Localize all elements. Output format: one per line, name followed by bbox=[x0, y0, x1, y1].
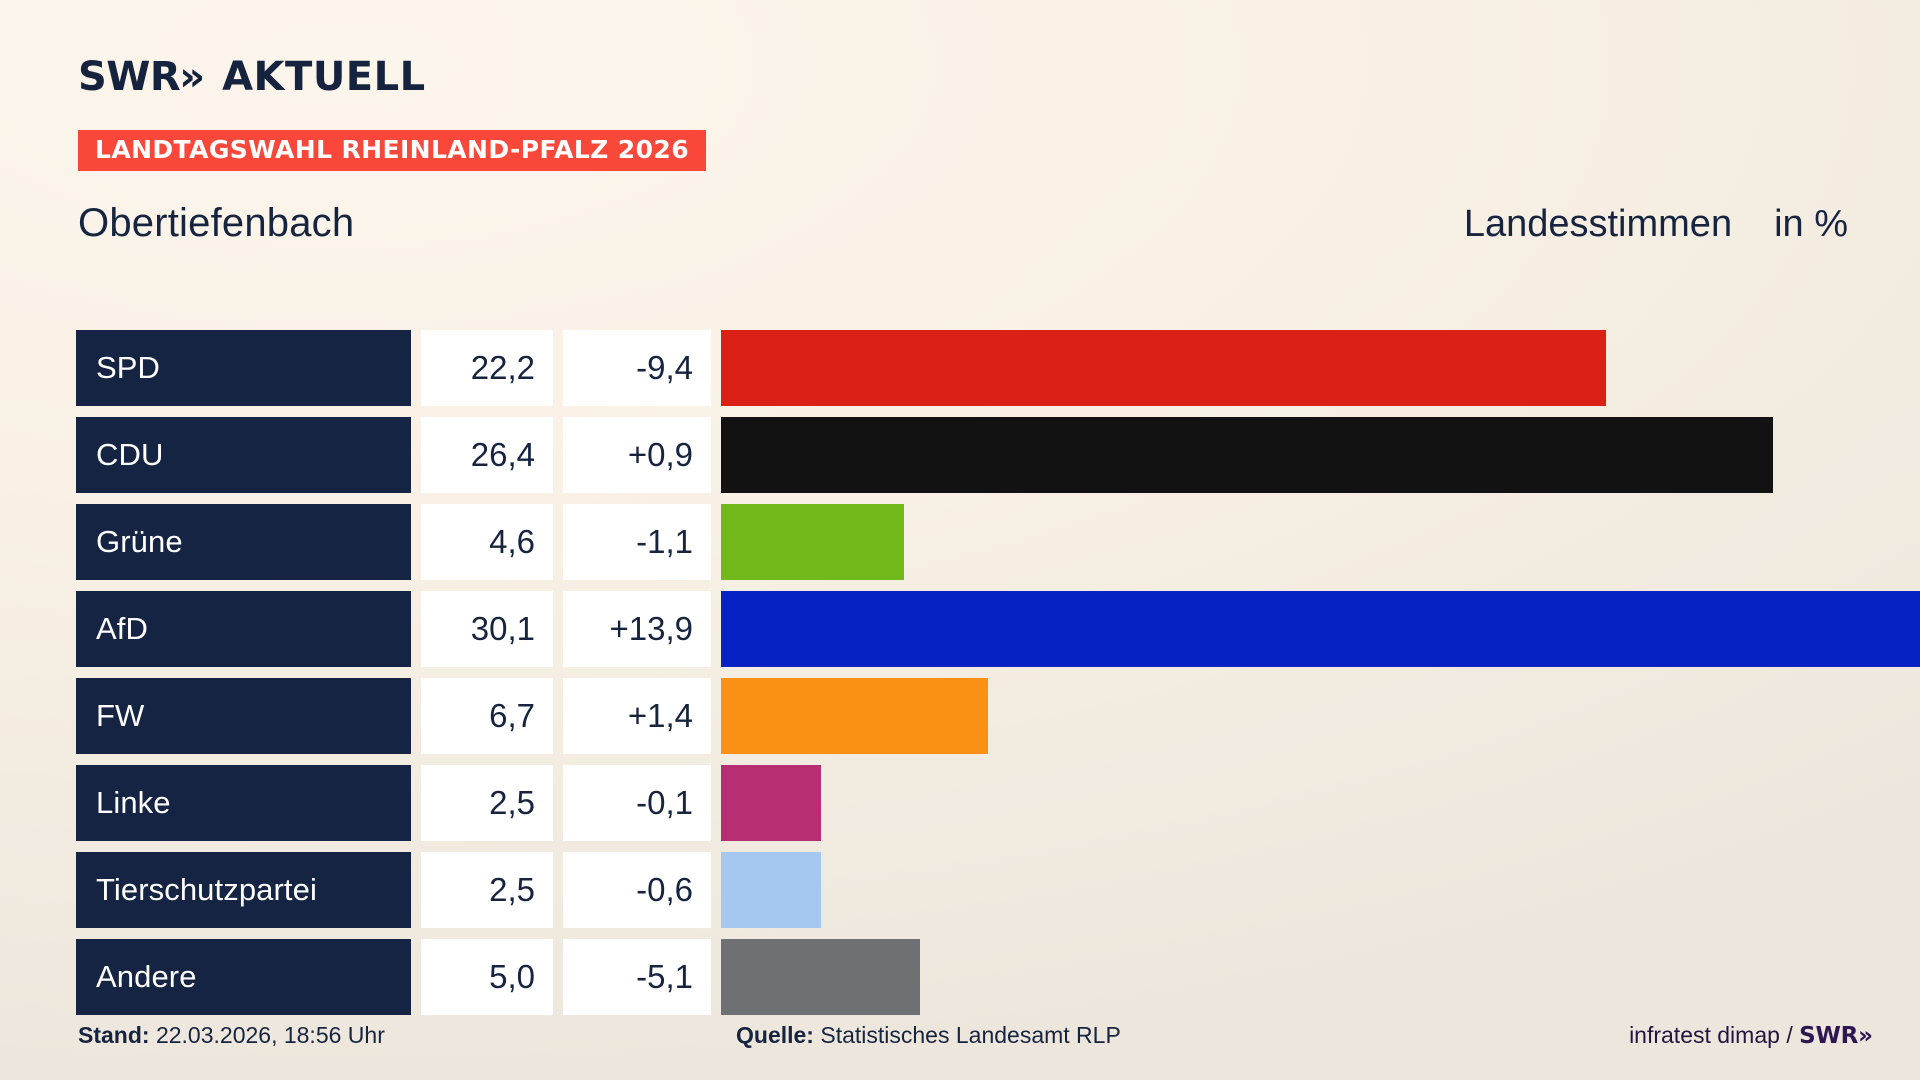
result-value-cell: 6,7 bbox=[421, 678, 553, 754]
result-value: 2,5 bbox=[489, 871, 535, 909]
party-label-cell: Tierschutzpartei bbox=[76, 852, 411, 928]
result-value: 2,5 bbox=[489, 784, 535, 822]
result-value: 30,1 bbox=[471, 610, 535, 648]
vote-type-label: Landesstimmen bbox=[1464, 203, 1732, 246]
result-change: -9,4 bbox=[636, 349, 693, 387]
result-value-cell: 5,0 bbox=[421, 939, 553, 1015]
result-change: -0,6 bbox=[636, 871, 693, 909]
aktuell-logo-text: AKTUELL bbox=[222, 57, 426, 97]
result-change-cell: -5,1 bbox=[563, 939, 711, 1015]
quelle-label: Quelle: bbox=[736, 1022, 814, 1048]
result-change-cell: +13,9 bbox=[563, 591, 711, 667]
result-bar bbox=[721, 765, 821, 841]
result-value: 5,0 bbox=[489, 958, 535, 996]
table-row: FW6,7+1,4 bbox=[76, 678, 1866, 754]
table-row: Andere5,0-5,1 bbox=[76, 939, 1866, 1015]
credit-chevron-icon: » bbox=[1858, 1023, 1868, 1049]
bar-track bbox=[721, 330, 1866, 406]
table-row: CDU26,4+0,9 bbox=[76, 417, 1866, 493]
result-value-cell: 2,5 bbox=[421, 765, 553, 841]
party-name: Andere bbox=[96, 959, 197, 995]
party-label-cell: SPD bbox=[76, 330, 411, 406]
result-value-cell: 22,2 bbox=[421, 330, 553, 406]
bar-track bbox=[721, 591, 1866, 667]
party-name: AfD bbox=[96, 611, 148, 647]
table-row: Tierschutzpartei2,5-0,6 bbox=[76, 852, 1866, 928]
credit-info: infratest dimap / SWR» bbox=[1629, 1022, 1868, 1049]
result-value: 22,2 bbox=[471, 349, 535, 387]
footer: Stand: 22.03.2026, 18:56 Uhr Quelle: Sta… bbox=[78, 1022, 1868, 1062]
result-change: +1,4 bbox=[628, 697, 693, 735]
result-value: 26,4 bbox=[471, 436, 535, 474]
quelle-value: Statistisches Landesamt RLP bbox=[820, 1022, 1120, 1048]
stand-label: Stand: bbox=[78, 1022, 150, 1048]
credit-agency: infratest dimap bbox=[1629, 1022, 1780, 1048]
party-label-cell: FW bbox=[76, 678, 411, 754]
credit-swr-logo: SWR bbox=[1799, 1023, 1858, 1049]
result-change: +13,9 bbox=[610, 610, 694, 648]
result-bar bbox=[721, 939, 920, 1015]
result-value-cell: 30,1 bbox=[421, 591, 553, 667]
stand-value: 22.03.2026, 18:56 Uhr bbox=[156, 1022, 385, 1048]
result-change-cell: -0,6 bbox=[563, 852, 711, 928]
table-row: Linke2,5-0,1 bbox=[76, 765, 1866, 841]
municipality-name: Obertiefenbach bbox=[78, 201, 354, 246]
stand-info: Stand: 22.03.2026, 18:56 Uhr bbox=[78, 1022, 385, 1049]
result-bar bbox=[721, 852, 821, 928]
result-bar bbox=[721, 417, 1773, 493]
result-change: -0,1 bbox=[636, 784, 693, 822]
result-change-cell: +1,4 bbox=[563, 678, 711, 754]
result-change-cell: -9,4 bbox=[563, 330, 711, 406]
header: SWR » AKTUELL LANDTAGSWAHL RHEINLAND-PFA… bbox=[78, 54, 1848, 246]
vote-meta: Landesstimmen in % bbox=[1464, 203, 1848, 246]
table-row: Grüne4,6-1,1 bbox=[76, 504, 1866, 580]
election-result-graphic: SWR » AKTUELL LANDTAGSWAHL RHEINLAND-PFA… bbox=[0, 0, 1920, 1080]
bar-track bbox=[721, 765, 1866, 841]
election-badge: LANDTAGSWAHL RHEINLAND-PFALZ 2026 bbox=[78, 130, 706, 171]
credit-separator: / bbox=[1786, 1022, 1792, 1048]
subheader: Obertiefenbach Landesstimmen in % bbox=[78, 201, 1848, 246]
table-row: AfD30,1+13,9 bbox=[76, 591, 1866, 667]
result-change-cell: -0,1 bbox=[563, 765, 711, 841]
party-label-cell: AfD bbox=[76, 591, 411, 667]
result-change-cell: -1,1 bbox=[563, 504, 711, 580]
result-value: 4,6 bbox=[489, 523, 535, 561]
result-bar bbox=[721, 504, 904, 580]
bar-track bbox=[721, 852, 1866, 928]
result-bar bbox=[721, 591, 1920, 667]
party-name: FW bbox=[96, 698, 144, 734]
result-change-cell: +0,9 bbox=[563, 417, 711, 493]
swr-logo-text: SWR bbox=[78, 57, 180, 97]
party-label-cell: CDU bbox=[76, 417, 411, 493]
party-name: Linke bbox=[96, 785, 171, 821]
result-value-cell: 2,5 bbox=[421, 852, 553, 928]
result-change: -5,1 bbox=[636, 958, 693, 996]
result-value: 6,7 bbox=[489, 697, 535, 735]
bar-track bbox=[721, 678, 1866, 754]
party-name: CDU bbox=[96, 437, 163, 473]
bar-track bbox=[721, 504, 1866, 580]
result-bar bbox=[721, 330, 1606, 406]
party-label-cell: Andere bbox=[76, 939, 411, 1015]
unit-label: in % bbox=[1774, 203, 1848, 246]
result-change: -1,1 bbox=[636, 523, 693, 561]
table-row: SPD22,2-9,4 bbox=[76, 330, 1866, 406]
result-value-cell: 26,4 bbox=[421, 417, 553, 493]
result-change: +0,9 bbox=[628, 436, 693, 474]
party-name: SPD bbox=[96, 350, 160, 386]
swr-aktuell-logo: SWR » AKTUELL bbox=[78, 54, 1848, 100]
result-value-cell: 4,6 bbox=[421, 504, 553, 580]
bar-track bbox=[721, 417, 1866, 493]
party-name: Grüne bbox=[96, 524, 183, 560]
party-label-cell: Linke bbox=[76, 765, 411, 841]
results-table: SPD22,2-9,4CDU26,4+0,9Grüne4,6-1,1AfD30,… bbox=[76, 330, 1866, 1026]
source-info: Quelle: Statistisches Landesamt RLP bbox=[736, 1022, 1121, 1049]
bar-track bbox=[721, 939, 1866, 1015]
result-bar bbox=[721, 678, 988, 754]
chevron-double-right-icon: » bbox=[179, 57, 212, 97]
party-label-cell: Grüne bbox=[76, 504, 411, 580]
party-name: Tierschutzpartei bbox=[96, 872, 317, 908]
